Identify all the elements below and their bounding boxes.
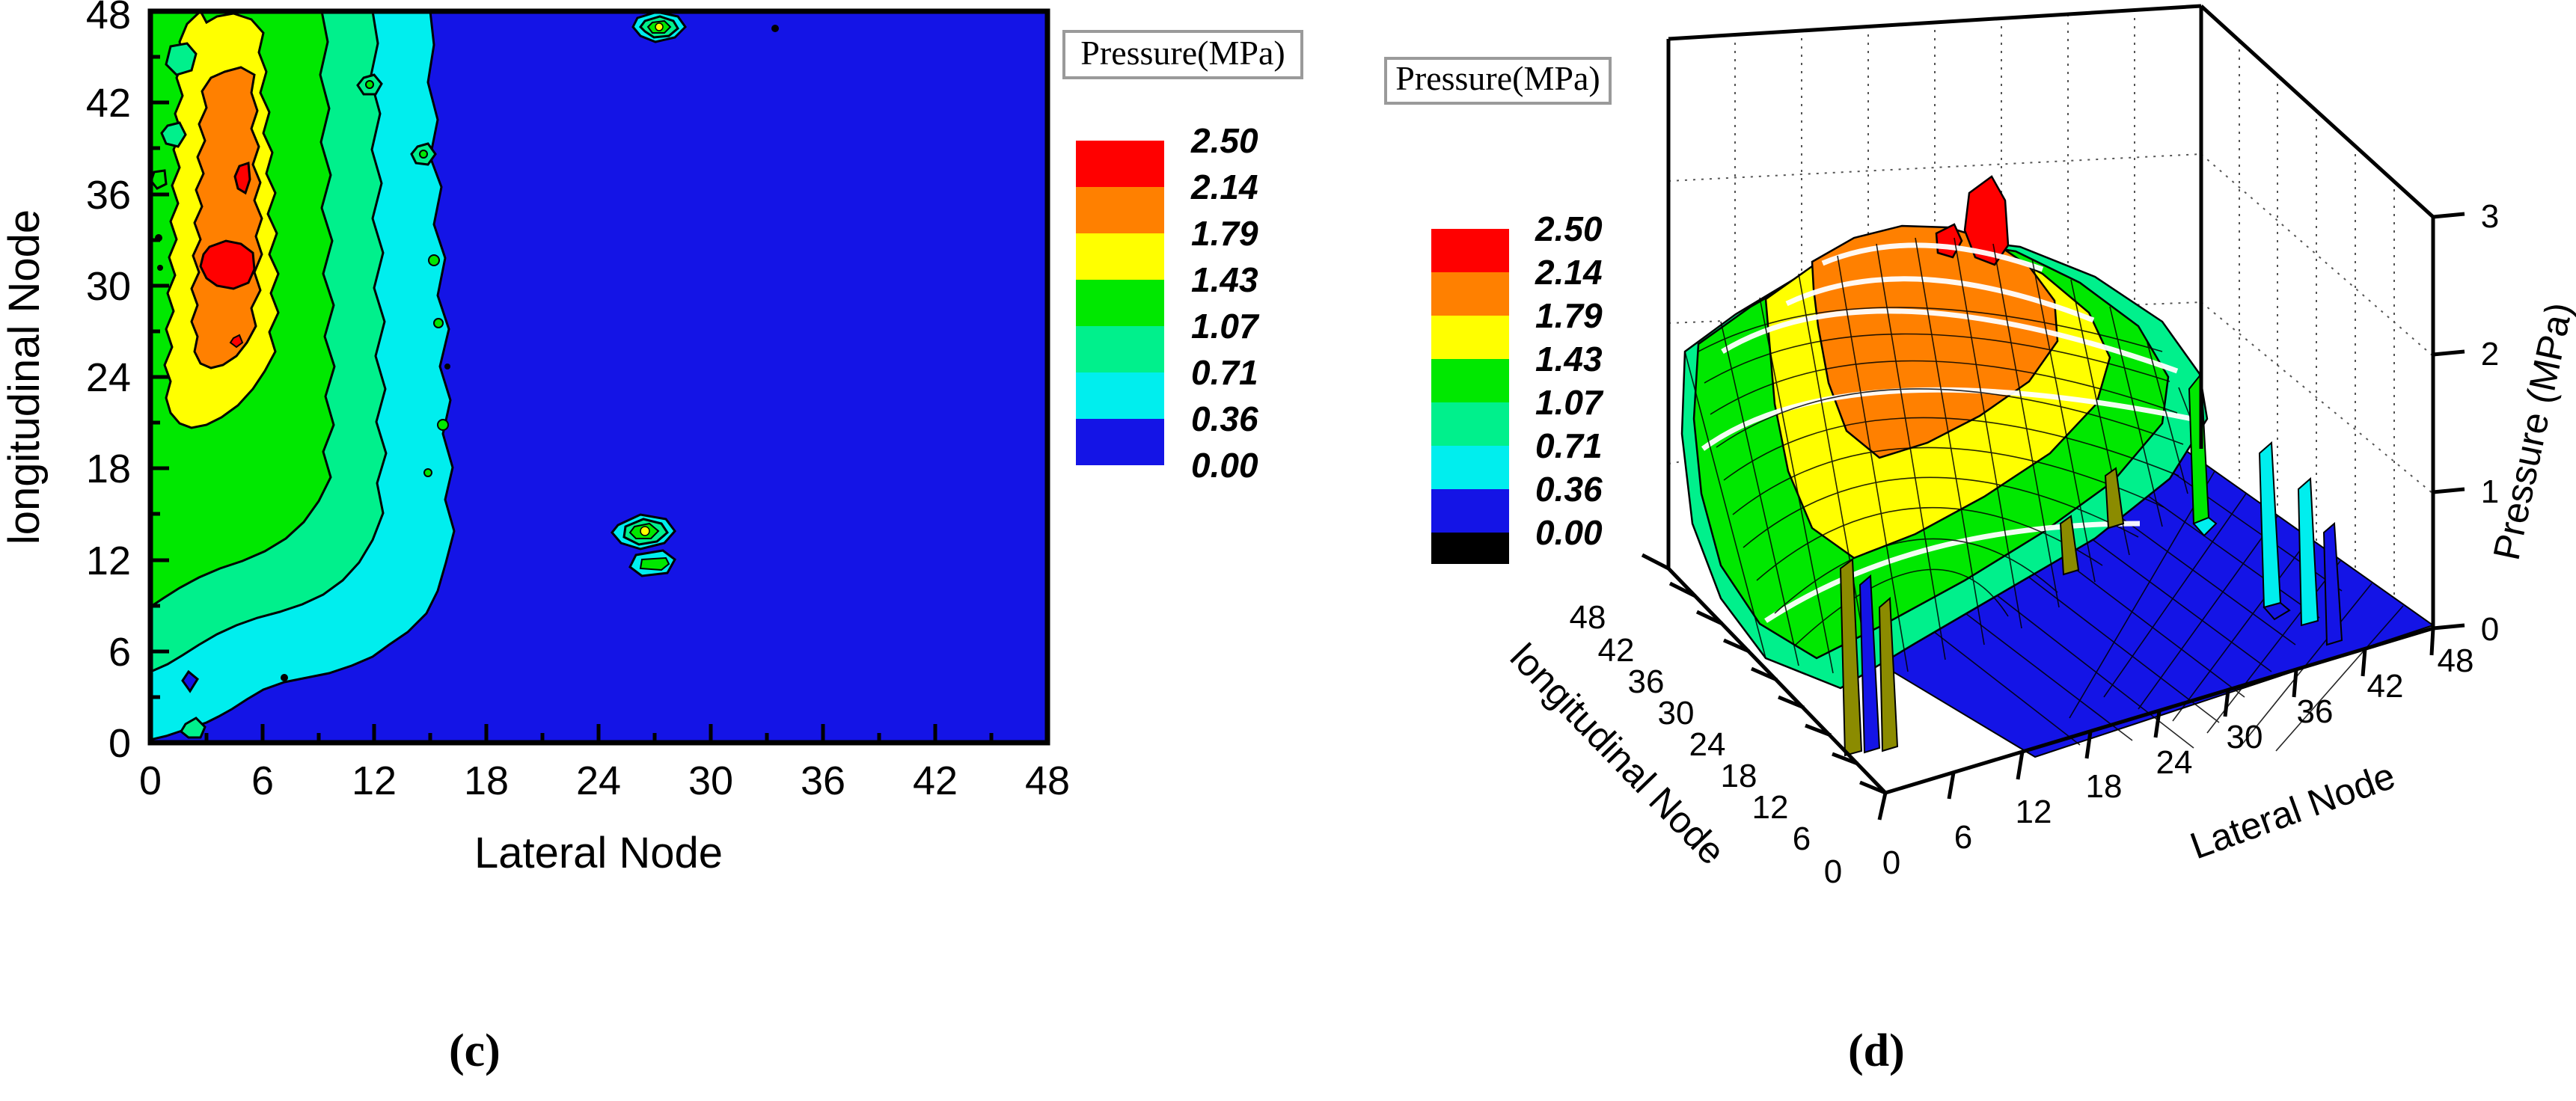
xtick-8: 48 [1025,758,1070,803]
legend-value-5: 0.71 [1191,353,1258,392]
axis3d-pressure-labels: 0 1 2 3 [2481,198,2499,648]
y3dtick-0: 0 [1824,853,1842,890]
xtick-0: 0 [139,758,162,803]
x3dtick-36: 36 [2297,693,2334,730]
ytick-1: 6 [108,630,131,675]
legend-colorbar-c [1076,141,1164,465]
contour-speck-right-4 [438,420,448,430]
xtick-6: 36 [801,758,845,803]
x3dtick-48: 48 [2438,642,2474,679]
legend-swatch-4 [1076,326,1164,372]
ytick-2: 12 [86,539,131,583]
z3dtick-0: 0 [2481,611,2499,648]
legend-colorbar-d [1431,229,1509,564]
legend3d-value-6: 0.36 [1535,470,1603,509]
figure-root: 0 6 12 18 24 30 36 42 48 Lateral Node 0 … [0,0,2576,1101]
y3dtick-12: 12 [1752,789,1789,826]
ytick-4: 24 [86,355,131,400]
contour-y-axis-title: longitudinal Node [0,209,49,545]
legend-swatch-3 [1076,280,1164,326]
contour-speck-far-top [771,25,779,32]
contour-island-right-b-core [420,150,427,158]
contour-island-group-mid-b [630,550,675,576]
contour-speck-right-5 [424,469,432,476]
legend3d-value-0: 2.50 [1535,209,1603,248]
x3dtick-30: 30 [2227,719,2263,755]
ytick-5: 30 [86,264,131,309]
surface3d-panel-d: Pressure(MPa) 2.50 2.14 1.79 1.43 1.07 0… [1347,0,2576,972]
legend-swatch-0 [1076,141,1164,187]
legend3d-value-1: 2.14 [1535,253,1603,292]
legend3d-swatch-7 [1431,533,1509,564]
xtick-4: 24 [576,758,621,803]
xtick-3: 18 [464,758,509,803]
legend-value-3: 1.43 [1191,260,1258,299]
legend-panel-d: Pressure(MPa) 2.50 2.14 1.79 1.43 1.07 0… [1386,58,1610,564]
axis3d-pressure-ticks [2433,214,2465,628]
legend3d-swatch-1 [1431,272,1509,316]
x3dtick-42: 42 [2367,668,2404,705]
legend3d-title: Pressure(MPa) [1395,59,1600,97]
x3dtick-12: 12 [2016,794,2052,830]
legend-swatch-2 [1076,233,1164,280]
xtick-1: 6 [251,758,274,803]
ytick-3: 18 [86,447,131,491]
legend-swatch-6 [1076,419,1164,465]
x3dtick-24: 24 [2156,744,2193,781]
contour-speck-left-2 [157,265,163,271]
z3dtick-3: 3 [2481,198,2499,235]
legend-value-4: 1.07 [1191,307,1260,346]
panel-caption-d: (d) [1848,1025,1905,1078]
legend-values-d: 2.50 2.14 1.79 1.43 1.07 0.71 0.36 0.00 [1535,209,1604,552]
axis3d-lateral-title: Lateral Node [2185,755,2400,868]
ytick-8: 48 [86,0,131,37]
legend3d-value-2: 1.79 [1535,296,1603,335]
contour-y-tick-labels: 0 6 12 18 24 30 36 42 48 [86,0,131,766]
contour-speck-right-1 [429,255,439,266]
contour-island-left-a [166,43,196,75]
legend-panel-c: Pressure(MPa) 2.50 2.14 1.79 1.43 1.07 0… [1064,31,1302,485]
legend-value-7: 0.00 [1191,446,1258,485]
legend3d-value-7: 0.00 [1535,513,1603,552]
legend-swatch-5 [1076,372,1164,419]
contour-x-tick-labels: 0 6 12 18 24 30 36 42 48 [139,758,1070,803]
legend-value-1: 2.14 [1190,168,1258,206]
legend3d-swatch-6 [1431,489,1509,533]
legend-values-c: 2.50 2.14 1.79 1.43 1.07 0.71 0.36 0.00 [1190,121,1260,485]
legend-swatch-1 [1076,187,1164,233]
z3dtick-2: 2 [2481,336,2499,372]
legend-value-2: 1.79 [1191,214,1258,253]
legend-title: Pressure(MPa) [1080,34,1285,72]
legend3d-swatch-3 [1431,359,1509,402]
panel-caption-c: (c) [449,1025,501,1078]
legend3d-swatch-2 [1431,316,1509,359]
contour-speck-lower-1 [281,674,288,681]
legend3d-swatch-5 [1431,446,1509,489]
contour-x-axis-title: Lateral Node [474,829,723,877]
contour-speck-right-3 [444,364,450,369]
xtick-5: 30 [688,758,733,803]
xtick-7: 42 [913,758,958,803]
x3dtick-18: 18 [2086,768,2123,805]
ytick-0: 0 [108,721,131,766]
x3dtick-0: 0 [1882,844,1900,881]
legend3d-value-3: 1.43 [1535,340,1603,378]
y3dtick-48: 48 [1570,599,1606,636]
legend3d-swatch-4 [1431,402,1509,446]
x3dtick-6: 6 [1954,819,1972,856]
xtick-2: 12 [352,758,397,803]
contour-field [150,11,1047,743]
contour-panel-c: 0 6 12 18 24 30 36 42 48 Lateral Node 0 … [0,0,1347,972]
legend-value-0: 2.50 [1190,121,1258,160]
legend3d-swatch-0 [1431,229,1509,272]
legend3d-value-5: 0.71 [1535,426,1603,465]
contour-speck-right-2 [434,319,443,328]
legend-value-6: 0.36 [1191,399,1258,438]
y3dtick-6: 6 [1793,821,1811,857]
ytick-6: 36 [86,173,131,218]
legend3d-value-4: 1.07 [1535,383,1604,422]
contour-island-right-a-core [366,81,373,88]
ytick-7: 42 [86,81,131,126]
